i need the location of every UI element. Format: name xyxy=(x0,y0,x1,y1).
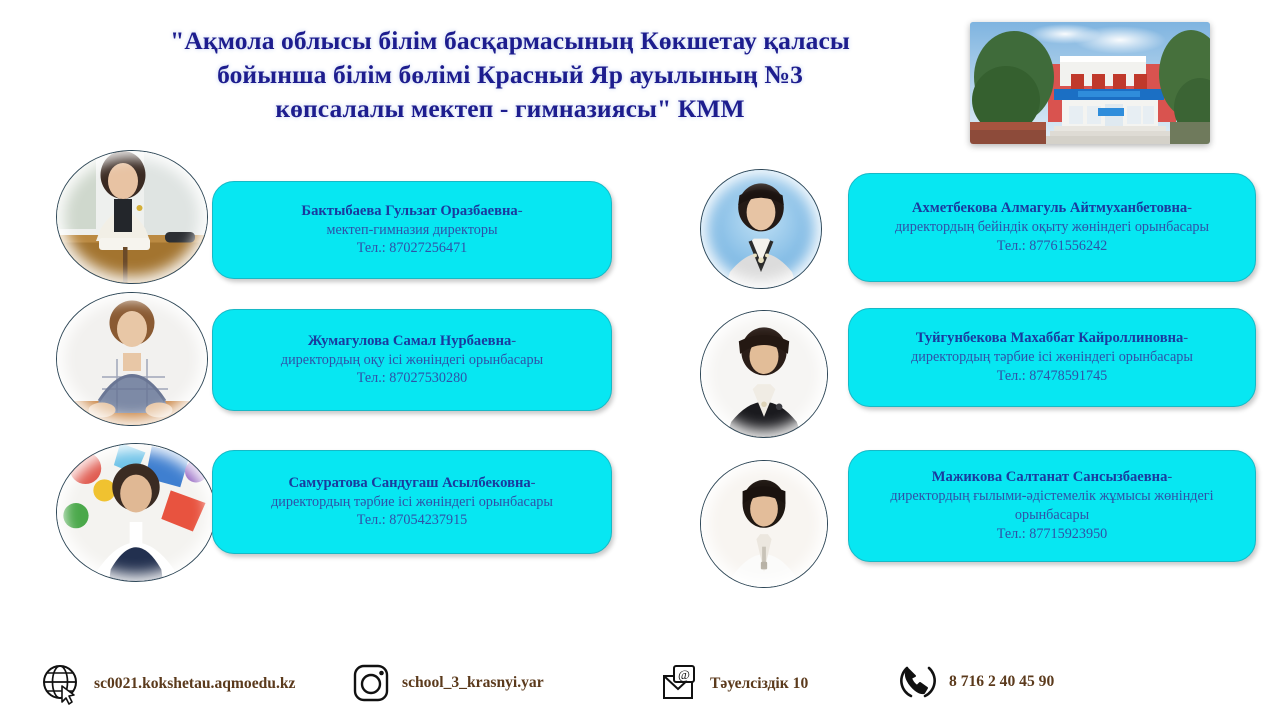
staff-phone: Тел.: 87761556242 xyxy=(997,237,1108,256)
staff-role: директордың оқу ісі жөніндегі орынбасары xyxy=(281,351,543,370)
staff-card-baktybaeva: Бактыбаева Гульзат Оразбаевна- мектеп-ги… xyxy=(212,181,612,279)
staff-name: Туйгунбекова Махаббат Кайроллиновна- xyxy=(916,329,1188,348)
portrait-akhmetbekova xyxy=(700,169,822,289)
footer-phone[interactable]: 8 716 2 40 45 90 xyxy=(895,660,1054,704)
staff-name: Жумагулова Самал Нурбаевна- xyxy=(308,332,516,351)
staff-role: директордың бейіндік оқыту жөніндегі оры… xyxy=(895,218,1209,237)
page-title-line-2: бойынша білім бөлімі Красный Яр ауылының… xyxy=(60,58,960,92)
footer-website-text: sc0021.kokshetau.aqmoedu.kz xyxy=(94,675,295,693)
footer-address-text: Тәуелсіздік 10 xyxy=(710,675,808,693)
staff-name-dash: - xyxy=(518,203,523,219)
staff-phone: Тел.: 87054237915 xyxy=(357,511,468,530)
footer-website[interactable]: sc0021.kokshetau.aqmoedu.kz xyxy=(40,662,295,706)
staff-card-zhumagulova: Жумагулова Самал Нурбаевна- директордың … xyxy=(212,309,612,411)
footer-address[interactable]: @ Тәуелсіздік 10 xyxy=(660,664,808,704)
portrait-samuratova xyxy=(56,443,216,582)
staff-name: Мажикова Салтанат Сансызбаевна- xyxy=(932,468,1173,487)
portrait-zhumagulova xyxy=(56,292,208,426)
portrait-tuygunbekova xyxy=(700,310,828,438)
staff-card-akhmetbekova: Ахметбекова Алмагуль Айтмуханбетовна- ди… xyxy=(848,173,1256,282)
email-envelope-icon: @ xyxy=(660,664,700,704)
page-title-line-1: "Ақмола облысы білім басқармасының Көкше… xyxy=(60,24,960,58)
footer-phone-text: 8 716 2 40 45 90 xyxy=(949,673,1054,691)
staff-name-dash: - xyxy=(511,333,516,349)
school-building-photo xyxy=(970,22,1210,144)
staff-role: директордың тәрбие ісі жөніндегі орынбас… xyxy=(271,493,553,512)
staff-name-dash: - xyxy=(1167,469,1172,485)
staff-phone: Тел.: 87478591745 xyxy=(997,367,1108,386)
staff-role: директордың тәрбие ісі жөніндегі орынбас… xyxy=(911,348,1193,367)
phone-icon xyxy=(895,660,939,704)
staff-name-dash: - xyxy=(531,475,536,491)
poster-root: "Ақмола облысы білім басқармасының Көкше… xyxy=(0,0,1280,720)
staff-card-mazhikova: Мажикова Салтанат Сансызбаевна- директор… xyxy=(848,450,1256,562)
svg-text:@: @ xyxy=(678,667,690,682)
staff-role: директордың ғылыми-әдістемелік жұмысы жө… xyxy=(863,487,1241,525)
footer-instagram[interactable]: school_3_krasnyi.yar xyxy=(350,662,544,704)
portrait-baktybaeva xyxy=(56,150,208,284)
portrait-mazhikova xyxy=(700,460,828,588)
staff-name-dash: - xyxy=(1183,330,1188,346)
page-title-line-3: көпсалалы мектеп - гимназиясы" КММ xyxy=(60,92,960,126)
staff-name: Самуратова Сандугаш Асылбековна- xyxy=(288,474,535,493)
staff-name: Ахметбекова Алмагуль Айтмуханбетовна- xyxy=(912,199,1192,218)
staff-phone: Тел.: 87027530280 xyxy=(357,369,468,388)
staff-card-samuratova: Самуратова Сандугаш Асылбековна- директо… xyxy=(212,450,612,554)
page-title: "Ақмола облысы білім басқармасының Көкше… xyxy=(60,24,960,126)
staff-phone: Тел.: 87027256471 xyxy=(357,239,468,258)
staff-phone: Тел.: 87715923950 xyxy=(997,525,1108,544)
staff-name: Бактыбаева Гульзат Оразбаевна- xyxy=(301,202,522,221)
staff-name-dash: - xyxy=(1187,200,1192,216)
staff-role: мектеп-гимназия директоры xyxy=(327,221,498,240)
footer-instagram-text: school_3_krasnyi.yar xyxy=(402,674,544,692)
globe-icon xyxy=(40,662,84,706)
instagram-icon xyxy=(350,662,392,704)
staff-card-tuygunbekova: Туйгунбекова Махаббат Кайроллиновна- дир… xyxy=(848,308,1256,407)
